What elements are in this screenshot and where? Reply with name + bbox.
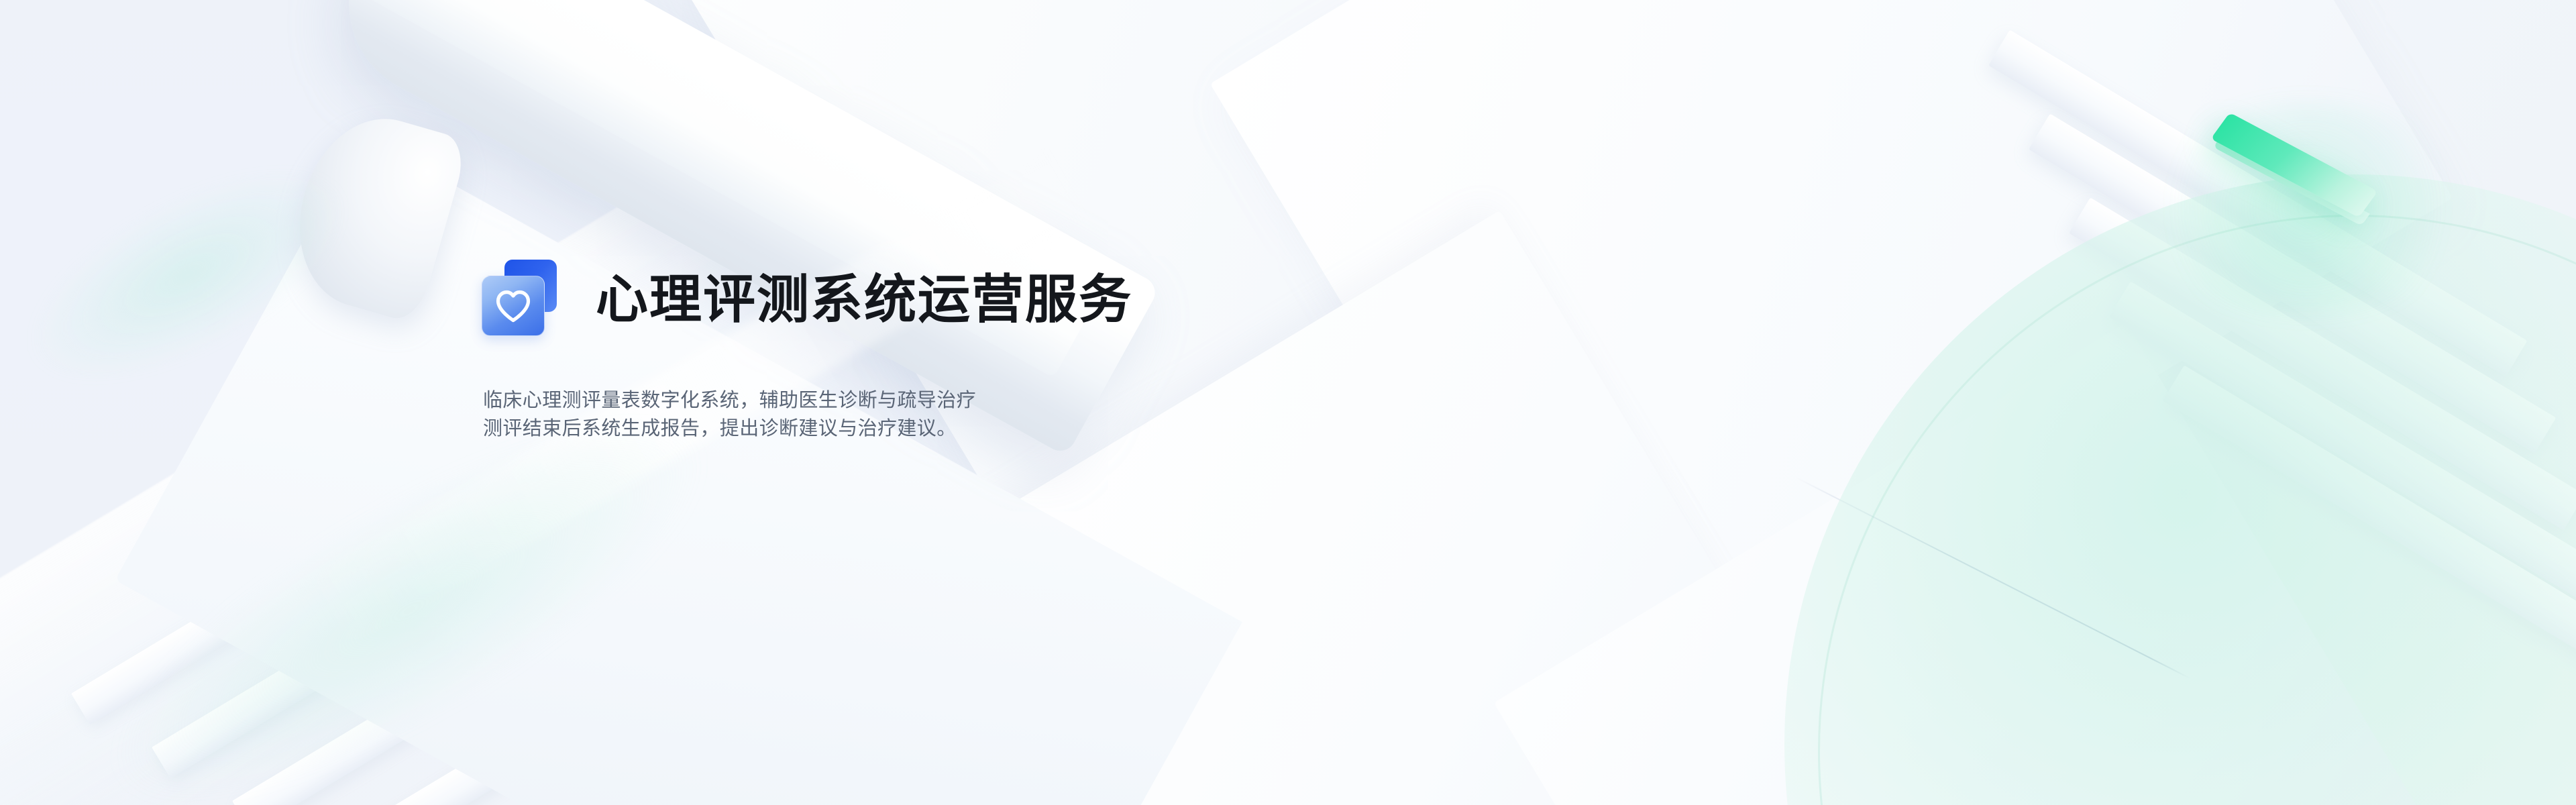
bg-green-slab	[2210, 113, 2377, 218]
hero-content: 心理评测系统运营服务 临床心理测评量表数字化系统，辅助医生诊断与疏导治疗 测评结…	[482, 252, 1488, 443]
bg-paper-sheet	[115, 134, 1242, 805]
bg-wedge-4	[313, 661, 653, 805]
bg-wedge-1	[71, 480, 446, 725]
bg-panel-lower-right	[1494, 323, 2437, 805]
title-row: 心理评测系统运营服务	[482, 252, 1488, 346]
subtitle-line-2: 测评结束后系统生成报告，提出诊断建议与治疗建议。	[483, 415, 1488, 443]
subtitle-line-1: 临床心理测评量表数字化系统，辅助医生诊断与疏导治疗	[483, 386, 1488, 415]
bg-green-slab-side	[2213, 135, 2370, 225]
bg-stair-ribbon-1	[1988, 30, 2527, 376]
bg-wedge-3	[232, 600, 584, 805]
subtitle-block: 临床心理测评量表数字化系统，辅助医生诊断与疏导治疗 测评结束后系统生成报告，提出…	[483, 386, 1488, 443]
bg-stair-ribbon-2	[2029, 113, 2556, 453]
bg-wedge-2	[152, 540, 515, 778]
bg-stair-ribbon-5	[2163, 365, 2576, 663]
bg-mint-arc-edge	[1818, 215, 2576, 805]
hero-banner: 心理评测系统运营服务 临床心理测评量表数字化系统，辅助医生诊断与疏导治疗 测评结…	[0, 0, 2576, 805]
bg-stair-ribbon-4	[2109, 281, 2576, 607]
heart-card-icon	[482, 260, 563, 339]
bg-paper-roll-cap	[278, 101, 470, 325]
page-title: 心理评测系统运营服务	[596, 273, 1132, 325]
bg-mint-wisp-left-upper	[0, 128, 376, 422]
bg-panel-edge-line	[1795, 476, 2190, 678]
heart-icon	[482, 276, 545, 336]
bg-stair-ribbon-3	[2069, 197, 2576, 530]
bg-mint-arc	[1784, 174, 2576, 805]
bg-green-slab-glow	[2133, 101, 2482, 315]
